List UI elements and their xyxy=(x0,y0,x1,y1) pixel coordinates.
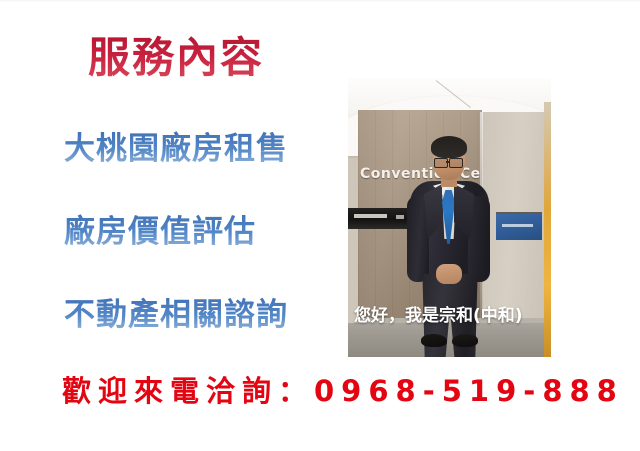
slide-canvas: 服務內容 大桃園廠房租售 廠房價值評估 不動產相關諮詢 歡迎來電洽詢：0968-… xyxy=(0,0,640,451)
photo-person-shoe-right xyxy=(452,334,478,347)
photo-person-hands xyxy=(436,264,462,284)
photo-person-shoe-left xyxy=(421,334,447,347)
photo-person-glasses-bridge xyxy=(446,161,450,163)
photo-counter-glint-right xyxy=(396,215,404,219)
photo-caption-text: 您好，我是宗和(中和) xyxy=(354,305,549,327)
photo-person-hair xyxy=(431,136,467,158)
photo-blue-sign-text-line xyxy=(502,224,533,227)
service-item-1: 大桃園廠房租售 xyxy=(64,129,288,169)
page-title: 服務內容 xyxy=(88,32,264,84)
top-edge-hairline xyxy=(0,0,640,2)
service-item-3: 不動產相關諮詢 xyxy=(64,295,288,335)
photo-person-glasses-left-lens xyxy=(434,158,448,168)
portrait-photo: Convention Ce 您好，我是宗和(中和) xyxy=(348,78,551,357)
photo-person-glasses-right-lens xyxy=(449,158,463,168)
service-item-2: 廠房價值評估 xyxy=(64,212,256,252)
contact-phone-line: 歡迎來電洽詢：0968-519-888 xyxy=(62,372,624,410)
photo-counter-glint-left xyxy=(354,214,387,218)
photo-floor xyxy=(348,323,551,357)
